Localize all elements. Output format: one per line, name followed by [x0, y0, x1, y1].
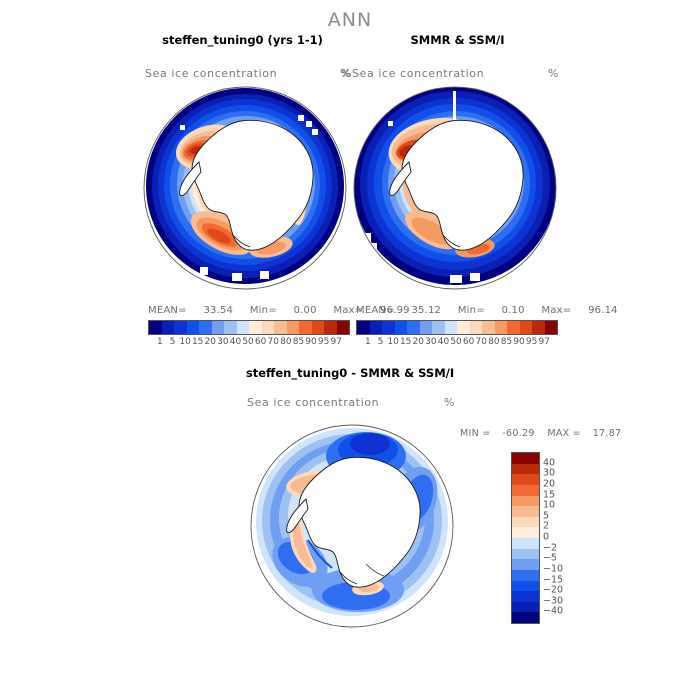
colorbar-swatch-3 [187, 321, 200, 334]
panel-model-map [140, 85, 350, 295]
diff-colorbar-swatch-13 [512, 591, 539, 602]
diff-colorbar-swatch-12 [512, 581, 539, 592]
colorbar-swatch-7 [445, 321, 458, 334]
diff-colorbar-swatch-9 [512, 549, 539, 560]
colorbar-observations[interactable] [356, 320, 558, 335]
colorbar-tick-10: 10 [179, 337, 192, 347]
diff-colorbar-tick-0: 0 [543, 532, 549, 542]
colorbar-swatch-2 [174, 321, 187, 334]
colorbar-swatch-14 [324, 321, 337, 334]
colorbar-tick-1: 1 [154, 337, 167, 347]
panel-observations-mean-label: MEAN= [356, 305, 395, 316]
diff-colorbar-swatch-8 [512, 538, 539, 549]
diff-colorbar-swatch-4 [512, 496, 539, 507]
colorbar-tick-95: 95 [317, 337, 330, 347]
colorbar-swatch-10 [482, 321, 495, 334]
colorbar-tick-70: 70 [267, 337, 280, 347]
colorbar-tick-60: 60 [254, 337, 267, 347]
diff-colorbar-tick-5: 5 [543, 511, 549, 521]
colorbar-swatch-10 [274, 321, 287, 334]
panel-difference: steffen_tuning0 - SMMR & SSM/I [200, 366, 500, 380]
colorbar-swatch-7 [237, 321, 250, 334]
colorbar-swatch-11 [287, 321, 300, 334]
panel-model-min-label: Min= [250, 305, 277, 316]
colorbar-swatch-6 [432, 321, 445, 334]
colorbar-tick-97: 97 [538, 337, 551, 347]
diff-colorbar-swatch-6 [512, 517, 539, 528]
panel-model-mean-value: 33.54 [203, 305, 233, 316]
colorbar-tick-50: 50 [242, 337, 255, 347]
panel-observations-map [352, 85, 562, 295]
diff-colorbar-swatch-0 [512, 453, 539, 464]
colorbar-tick-70: 70 [475, 337, 488, 347]
colorbar-tick-80: 80 [280, 337, 293, 347]
panel-observations-stats: MEAN= 35.12 Min= 0.10 Max= 96.14 [356, 305, 618, 316]
diff-colorbar-tick-40: 40 [543, 458, 555, 468]
colorbar-swatch-0 [149, 321, 162, 334]
colorbar-tick-85: 85 [500, 337, 513, 347]
colorbar-difference[interactable] [511, 452, 540, 624]
colorbar-swatch-15 [545, 321, 558, 334]
panel-difference-title: steffen_tuning0 - SMMR & SSM/I [200, 366, 500, 380]
panel-observations-units-label-left: % [341, 67, 351, 80]
colorbar-swatch-13 [312, 321, 325, 334]
colorbar-swatch-5 [212, 321, 225, 334]
colorbar-tick-30: 30 [425, 337, 438, 347]
panel-observations-mean-value: 35.12 [411, 305, 441, 316]
colorbar-difference-ticks: 4030201510520−2−5−10−15−20−30−40 [543, 452, 583, 622]
colorbar-swatch-6 [224, 321, 237, 334]
season-title: ANN [0, 9, 700, 31]
colorbar-swatch-12 [299, 321, 312, 334]
colorbar-swatch-13 [520, 321, 533, 334]
colorbar-swatch-8 [249, 321, 262, 334]
colorbar-swatch-4 [199, 321, 212, 334]
diff-colorbar-swatch-5 [512, 506, 539, 517]
panel-model: steffen_tuning0 (yrs 1-1) [135, 33, 350, 47]
colorbar-swatch-4 [407, 321, 420, 334]
diff-colorbar-tick-2: 2 [543, 522, 549, 532]
panel-observations-variable-label: Sea ice concentration [352, 67, 484, 80]
colorbar-tick-10: 10 [387, 337, 400, 347]
colorbar-swatch-9 [470, 321, 483, 334]
diff-colorbar-tick--2: −2 [543, 543, 557, 553]
colorbar-model[interactable] [148, 320, 350, 335]
diff-colorbar-tick--30: −30 [543, 596, 563, 606]
diff-colorbar-tick-15: 15 [543, 490, 555, 500]
panel-observations: SMMR & SSM/I [350, 33, 565, 47]
diff-colorbar-tick-30: 30 [543, 469, 555, 479]
colorbar-tick-40: 40 [437, 337, 450, 347]
colorbar-tick-90: 90 [513, 337, 526, 347]
colorbar-swatch-1 [162, 321, 175, 334]
colorbar-tick-60: 60 [462, 337, 475, 347]
colorbar-swatch-12 [507, 321, 520, 334]
colorbar-tick-90: 90 [305, 337, 318, 347]
diff-colorbar-tick-20: 20 [543, 479, 555, 489]
diff-colorbar-tick--20: −20 [543, 585, 563, 595]
colorbar-tick-1: 1 [362, 337, 375, 347]
panel-model-min-value: 0.00 [294, 305, 317, 316]
panel-difference-map [248, 422, 460, 634]
panel-difference-variable-label: Sea ice concentration [247, 396, 379, 409]
colorbar-swatch-0 [357, 321, 370, 334]
colorbar-tick-40: 40 [229, 337, 242, 347]
panel-observations-min-value: 0.10 [502, 305, 525, 316]
panel-difference-min-label: MIN = [460, 428, 491, 439]
colorbar-swatch-2 [382, 321, 395, 334]
panel-observations-min-label: Min= [458, 305, 485, 316]
colorbar-tick-97: 97 [330, 337, 343, 347]
colorbar-tick-85: 85 [292, 337, 305, 347]
colorbar-swatch-15 [337, 321, 350, 334]
colorbar-model-ticks: 1510152030405060708085909597 [141, 337, 355, 347]
panel-observations-units-label-right: % [548, 67, 558, 80]
colorbar-observations-ticks: 1510152030405060708085909597 [349, 337, 563, 347]
colorbar-swatch-8 [457, 321, 470, 334]
diff-colorbar-swatch-7 [512, 527, 539, 538]
colorbar-tick-20: 20 [412, 337, 425, 347]
colorbar-swatch-14 [532, 321, 545, 334]
panel-model-title: steffen_tuning0 (yrs 1-1) [135, 33, 350, 47]
panel-difference-max-label: MAX = [547, 428, 581, 439]
diff-colorbar-swatch-10 [512, 559, 539, 570]
colorbar-tick-95: 95 [525, 337, 538, 347]
panel-difference-min-value: -60.29 [502, 428, 534, 439]
colorbar-tick-5: 5 [374, 337, 387, 347]
panel-model-variable-label: Sea ice concentration [145, 67, 277, 80]
diff-colorbar-swatch-11 [512, 570, 539, 581]
colorbar-swatch-9 [262, 321, 275, 334]
panel-observations-title: SMMR & SSM/I [350, 33, 565, 47]
colorbar-tick-80: 80 [488, 337, 501, 347]
diff-colorbar-tick--10: −10 [543, 564, 563, 574]
colorbar-swatch-11 [495, 321, 508, 334]
panel-difference-units-label: % [444, 396, 454, 409]
colorbar-tick-30: 30 [217, 337, 230, 347]
panel-observations-max-label: Max= [541, 305, 571, 316]
diff-colorbar-tick--5: −5 [543, 554, 557, 564]
colorbar-tick-15: 15 [191, 337, 204, 347]
colorbar-swatch-5 [420, 321, 433, 334]
panel-difference-max-value: 17.87 [593, 428, 622, 439]
diff-colorbar-swatch-1 [512, 464, 539, 475]
colorbar-swatch-1 [370, 321, 383, 334]
panel-model-mean-label: MEAN= [148, 305, 187, 316]
diff-colorbar-swatch-2 [512, 474, 539, 485]
colorbar-tick-20: 20 [204, 337, 217, 347]
colorbar-tick-5: 5 [166, 337, 179, 347]
diff-colorbar-swatch-15 [512, 612, 539, 623]
diff-colorbar-swatch-3 [512, 485, 539, 496]
colorbar-tick-50: 50 [450, 337, 463, 347]
colorbar-swatch-3 [395, 321, 408, 334]
diff-colorbar-swatch-14 [512, 602, 539, 613]
diff-colorbar-tick-10: 10 [543, 500, 555, 510]
diff-colorbar-tick--40: −40 [543, 607, 563, 617]
diff-colorbar-tick--15: −15 [543, 575, 563, 585]
panel-difference-minmax: MIN = -60.29 MAX = 17.87 [460, 428, 621, 439]
colorbar-tick-15: 15 [399, 337, 412, 347]
panel-observations-max-value: 96.14 [588, 305, 618, 316]
